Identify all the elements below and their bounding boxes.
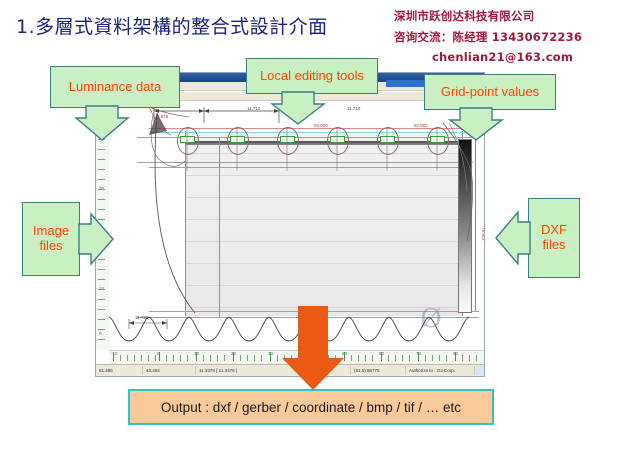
- vruler-label: 0: [99, 331, 102, 336]
- callout-grid-point-values[interactable]: Grid-point values: [424, 74, 556, 110]
- callout-label: Local editing tools: [260, 69, 364, 84]
- arrow-image-files-to-canvas: [79, 202, 115, 276]
- company-name: 深圳市跃创达科技有限公司: [394, 8, 638, 24]
- callout-luminance-data[interactable]: Luminance data: [50, 66, 180, 108]
- dimension-label: 11.730: [135, 315, 148, 320]
- company-info: 深圳市跃创达科技有限公司 咨询交流：陈经理 13430672236 chenli…: [394, 8, 638, 64]
- company-contact: 咨询交流：陈经理 13430672236: [394, 29, 638, 45]
- hruler-label: -10: [111, 351, 118, 356]
- arrow-grid-point-to-canvas: [424, 108, 556, 142]
- arrow-dxf-files-to-canvas: [494, 198, 530, 278]
- callout-label-line1: Image: [33, 224, 69, 239]
- status-x: 81.486: [96, 366, 143, 375]
- arrow-output-down: [280, 306, 346, 390]
- page-title: 1.多層式資料架構的整合式設計介面: [16, 12, 328, 39]
- status-coords: (81.5) 86775: [351, 366, 406, 375]
- output-label: Output : dxf / gerber / coordinate / bmp…: [161, 400, 461, 415]
- status-spare: [475, 366, 484, 375]
- callout-dxf-files[interactable]: DXF files: [528, 198, 580, 278]
- callout-label-line2: files: [542, 238, 565, 253]
- callout-image-files[interactable]: Image files: [22, 202, 80, 276]
- vertical-dimension-label: 326.91: [481, 227, 484, 241]
- callout-label-line1: DXF: [541, 223, 567, 238]
- arrow-luminance-to-canvas: [50, 106, 180, 142]
- company-email: chenlian21@163.com: [432, 50, 638, 64]
- right-profile-curve: [439, 121, 479, 321]
- arrow-local-editing-to-canvas: [246, 92, 378, 126]
- slide-root: 1.多層式資料架構的整合式設計介面 深圳市跃创达科技有限公司 咨询交流：陈经理 …: [0, 0, 640, 469]
- callout-label-line2: files: [39, 239, 62, 254]
- callout-label: Luminance data: [69, 80, 162, 95]
- status-note: Authorize to : O2 Corp.: [406, 366, 475, 375]
- output-box[interactable]: Output : dxf / gerber / coordinate / bmp…: [128, 389, 494, 425]
- callout-label: Grid-point values: [441, 85, 539, 100]
- status-y: 43.482: [143, 366, 196, 375]
- callout-local-editing-tools[interactable]: Local editing tools: [246, 58, 378, 94]
